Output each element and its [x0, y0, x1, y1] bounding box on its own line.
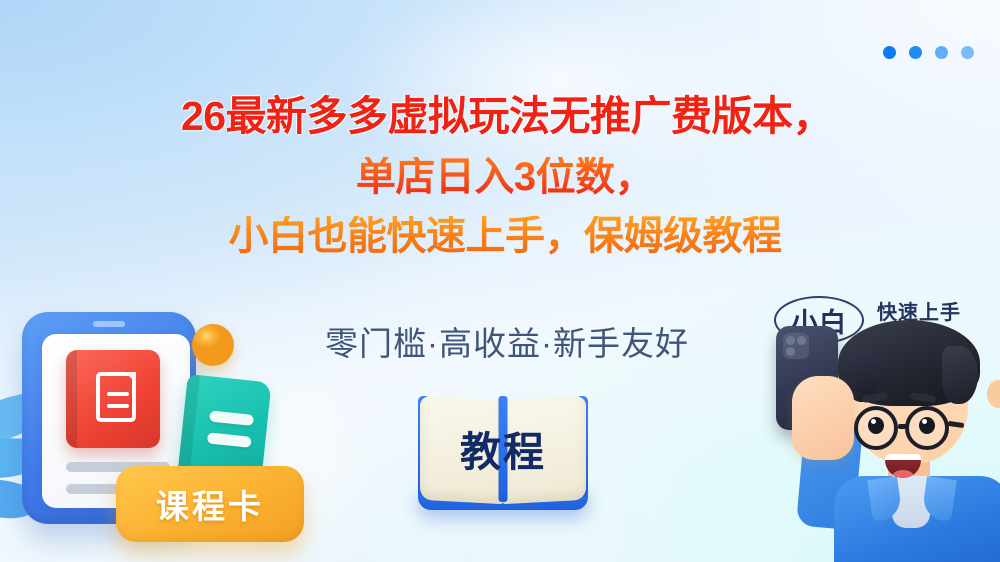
camera-lens-3 — [786, 347, 795, 356]
tutorial-book-badge: 教程 — [418, 392, 588, 510]
dot-4-icon — [961, 46, 974, 59]
camera-lens-2 — [797, 336, 806, 345]
course-illustration: 课程卡 — [0, 300, 314, 562]
teal-book-line-2 — [207, 432, 252, 448]
dot-3-icon — [935, 46, 948, 59]
headline-line-2: 单店日入3位数， — [0, 157, 1000, 197]
dot-2-icon — [909, 46, 922, 59]
course-card-badge-label: 课程卡 — [156, 480, 264, 528]
headline-line-1: 26最新多多虚拟玩法无推广费版本， — [0, 96, 1000, 137]
course-card-badge: 课程卡 — [116, 466, 304, 542]
dot-1-icon — [883, 46, 896, 59]
tablet-notch — [93, 321, 125, 327]
phone-camera-icon — [783, 333, 809, 359]
camera-lens-1 — [786, 336, 795, 345]
character-hand — [792, 376, 854, 460]
document-line-2 — [107, 404, 129, 408]
character-eye-right — [919, 417, 935, 434]
character-eye-left — [868, 417, 884, 434]
mascot-character — [742, 318, 1000, 562]
teal-book-line-1 — [209, 410, 254, 426]
sphere-icon — [192, 324, 234, 366]
document-card-spine — [66, 350, 77, 448]
poster-canvas: 26最新多多虚拟玩法无推广费版本， 单店日入3位数， 小白也能快速上手，保姆级教… — [0, 0, 1000, 562]
character-hair — [838, 320, 980, 406]
headline-block: 26最新多多虚拟玩法无推广费版本， 单店日入3位数， 小白也能快速上手，保姆级教… — [0, 96, 1000, 256]
glasses-bridge-icon — [898, 424, 909, 429]
document-file-icon — [96, 372, 136, 422]
character-ear — [987, 380, 1000, 408]
headline-line-3: 小白也能快速上手，保姆级教程 — [0, 216, 1000, 256]
decorative-dots — [883, 46, 974, 59]
document-line-1 — [107, 392, 129, 396]
tutorial-book-label: 教程 — [418, 418, 588, 478]
document-card-icon — [66, 350, 160, 448]
